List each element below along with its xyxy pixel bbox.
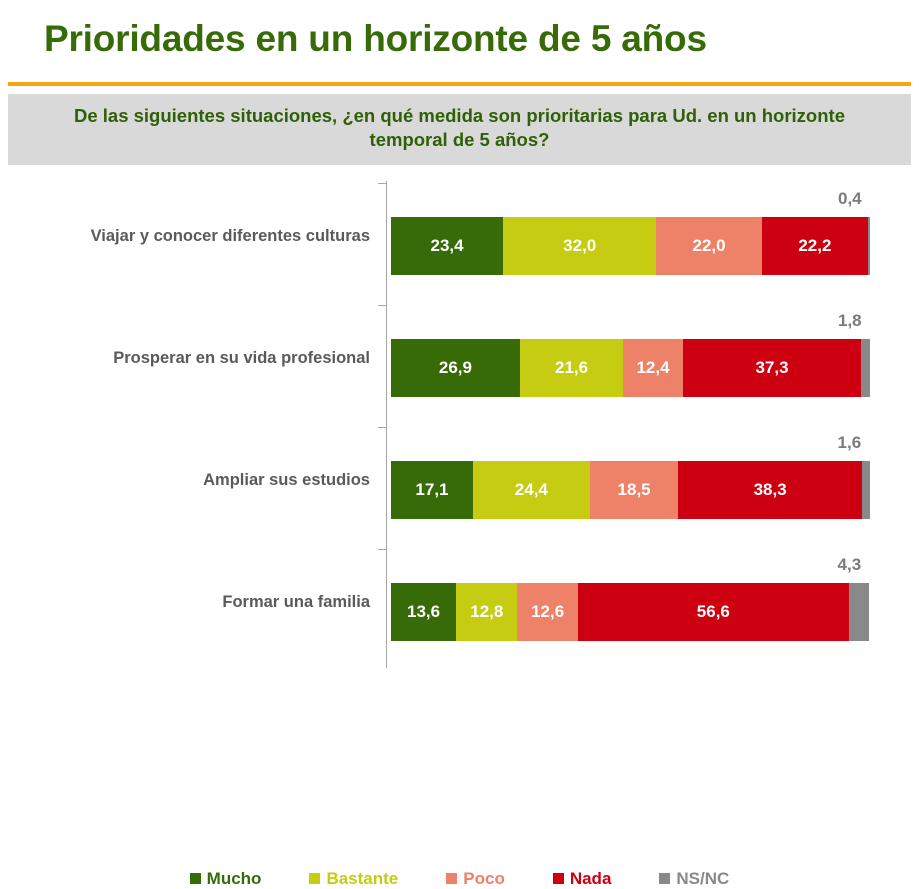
- bar-segment-poco[interactable]: 18,5: [590, 461, 679, 519]
- bar-segment-mucho[interactable]: 17,1: [391, 461, 473, 519]
- legend-label: Bastante: [326, 869, 398, 889]
- bar-segment-mucho[interactable]: 23,4: [391, 217, 503, 275]
- segment-value-label: 17,1: [415, 480, 448, 500]
- segment-value-label: 38,3: [754, 480, 787, 500]
- nsnc-value-label: 1,8: [838, 311, 862, 331]
- legend-swatch-icon: [309, 873, 320, 884]
- legend-swatch-icon: [190, 873, 201, 884]
- legend-item[interactable]: Nada: [553, 869, 612, 889]
- category-label: Formar una familia: [10, 593, 370, 612]
- legend-item[interactable]: Bastante: [309, 869, 398, 889]
- segment-value-label: 37,3: [755, 358, 788, 378]
- bar-segment-ns-nc[interactable]: [861, 339, 870, 397]
- legend-swatch-icon: [553, 873, 564, 884]
- nsnc-value-label: 4,3: [838, 555, 862, 575]
- bar-segment-nada[interactable]: 56,6: [578, 583, 849, 641]
- legend-item[interactable]: Poco: [446, 869, 505, 889]
- axis-tick: [378, 183, 386, 184]
- legend-swatch-icon: [659, 873, 670, 884]
- bar-segment-nada[interactable]: 38,3: [678, 461, 861, 519]
- category-label: Prosperar en su vida profesional: [10, 349, 370, 368]
- divider-wrap: [0, 78, 919, 90]
- category-label: Viajar y conocer diferentes culturas: [10, 227, 370, 246]
- question-text: De las siguientes situaciones, ¿en qué m…: [48, 104, 871, 153]
- segment-value-label: 13,6: [407, 602, 440, 622]
- bar-segment-ns-nc[interactable]: [868, 217, 870, 275]
- stacked-bar[interactable]: 26,921,612,437,3: [391, 339, 870, 397]
- bar-segment-poco[interactable]: 12,4: [623, 339, 682, 397]
- category-label: Ampliar sus estudios: [10, 471, 370, 490]
- segment-value-label: 12,6: [531, 602, 564, 622]
- stacked-bar[interactable]: 13,612,812,656,6: [391, 583, 869, 641]
- segment-value-label: 56,6: [697, 602, 730, 622]
- bar-segment-bastante[interactable]: 21,6: [520, 339, 623, 397]
- bar-segment-ns-nc[interactable]: [849, 583, 870, 641]
- chart-area: Viajar y conocer diferentes culturas23,4…: [0, 175, 919, 675]
- segment-value-label: 12,8: [470, 602, 503, 622]
- legend-label: Nada: [570, 869, 612, 889]
- bar-segment-bastante[interactable]: 24,4: [473, 461, 590, 519]
- orange-divider: [8, 82, 911, 86]
- nsnc-value-label: 0,4: [838, 189, 862, 209]
- legend-item[interactable]: Mucho: [190, 869, 262, 889]
- chart-row: Formar una familia13,612,812,656,64,3: [0, 549, 919, 671]
- legend-swatch-icon: [446, 873, 457, 884]
- bar-segment-bastante[interactable]: 12,8: [456, 583, 517, 641]
- stacked-bar-plot: Viajar y conocer diferentes culturas23,4…: [0, 175, 919, 675]
- chart-legend: MuchoBastantePocoNadaNS/NC: [0, 869, 919, 889]
- bar-segment-bastante[interactable]: 32,0: [503, 217, 656, 275]
- segment-value-label: 21,6: [555, 358, 588, 378]
- bar-segment-nada[interactable]: 37,3: [683, 339, 862, 397]
- legend-label: NS/NC: [676, 869, 729, 889]
- segment-value-label: 32,0: [563, 236, 596, 256]
- bar-segment-poco[interactable]: 12,6: [517, 583, 577, 641]
- stacked-bar[interactable]: 23,432,022,022,2: [391, 217, 870, 275]
- chart-row: Prosperar en su vida profesional26,921,6…: [0, 305, 919, 427]
- segment-value-label: 18,5: [618, 480, 651, 500]
- question-band: De las siguientes situaciones, ¿en qué m…: [8, 94, 911, 165]
- axis-tick: [378, 549, 386, 550]
- axis-tick: [378, 427, 386, 428]
- bar-segment-poco[interactable]: 22,0: [656, 217, 761, 275]
- bar-segment-mucho[interactable]: 26,9: [391, 339, 520, 397]
- segment-value-label: 22,2: [798, 236, 831, 256]
- segment-value-label: 22,0: [692, 236, 725, 256]
- title-block: Prioridades en un horizonte de 5 años: [0, 0, 919, 78]
- segment-value-label: 26,9: [439, 358, 472, 378]
- chart-row: Viajar y conocer diferentes culturas23,4…: [0, 183, 919, 305]
- bar-segment-nada[interactable]: 22,2: [762, 217, 868, 275]
- legend-label: Mucho: [207, 869, 262, 889]
- axis-tick: [378, 305, 386, 306]
- stacked-bar[interactable]: 17,124,418,538,3: [391, 461, 870, 519]
- segment-value-label: 24,4: [515, 480, 548, 500]
- legend-label: Poco: [463, 869, 505, 889]
- bar-segment-mucho[interactable]: 13,6: [391, 583, 456, 641]
- bar-segment-ns-nc[interactable]: [862, 461, 870, 519]
- page-title: Prioridades en un horizonte de 5 años: [44, 18, 707, 60]
- legend-item[interactable]: NS/NC: [659, 869, 729, 889]
- nsnc-value-label: 1,6: [838, 433, 862, 453]
- chart-row: Ampliar sus estudios17,124,418,538,31,6: [0, 427, 919, 549]
- segment-value-label: 23,4: [430, 236, 463, 256]
- segment-value-label: 12,4: [636, 358, 669, 378]
